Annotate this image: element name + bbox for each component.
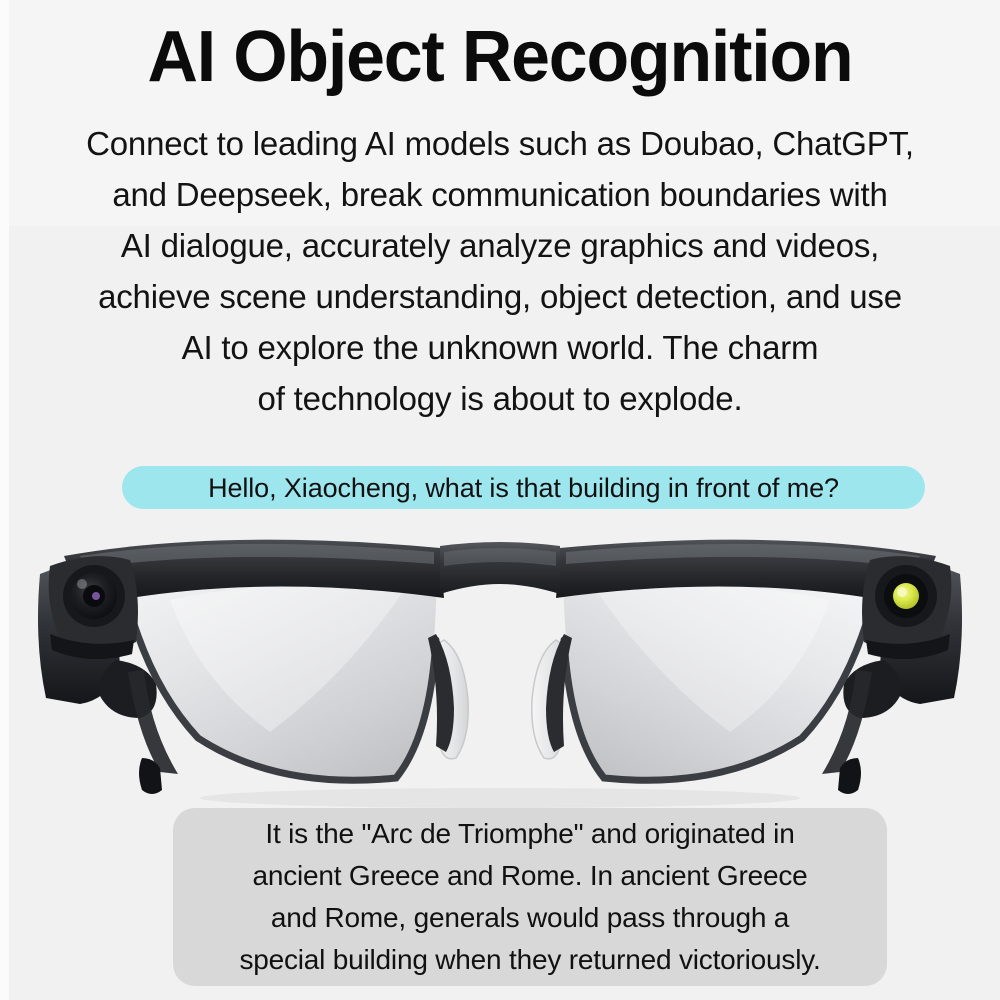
description-line-3: AI dialogue, accurately analyze graphics… xyxy=(40,220,960,271)
led-indicator-glow xyxy=(897,587,907,597)
description-line-2: and Deepseek, break communication bounda… xyxy=(40,169,960,220)
description-paragraph: Connect to leading AI models such as Dou… xyxy=(40,118,960,424)
description-line-5: AI to explore the unknown world. The cha… xyxy=(40,322,960,373)
background-left-strip xyxy=(0,0,9,1000)
user-question-text: Hello, Xiaocheng, what is that building … xyxy=(208,473,839,503)
camera-lens-glint xyxy=(92,592,100,600)
description-line-1: Connect to leading AI models such as Dou… xyxy=(40,118,960,169)
ai-answer-line-1: It is the "Arc de Triomphe" and originat… xyxy=(265,813,794,855)
description-line-4: achieve scene understanding, object dete… xyxy=(40,271,960,322)
product-shadow xyxy=(200,788,800,808)
ai-answer-line-4: special building when they returned vict… xyxy=(239,939,820,981)
led-indicator xyxy=(893,583,919,609)
ai-answer-line-2: ancient Greece and Rome. In ancient Gree… xyxy=(252,855,807,897)
ai-answer-bubble: It is the "Arc de Triomphe" and originat… xyxy=(173,808,887,986)
user-question-bubble: Hello, Xiaocheng, what is that building … xyxy=(122,466,925,509)
product-marketing-page: AI Object Recognition Connect to leading… xyxy=(0,0,1000,1000)
page-title: AI Object Recognition xyxy=(15,17,985,97)
smart-glasses-image xyxy=(20,522,980,812)
camera-lens-specular xyxy=(77,579,87,589)
description-line-6: of technology is about to explode. xyxy=(40,373,960,424)
ai-answer-line-3: and Rome, generals would pass through a xyxy=(271,897,789,939)
